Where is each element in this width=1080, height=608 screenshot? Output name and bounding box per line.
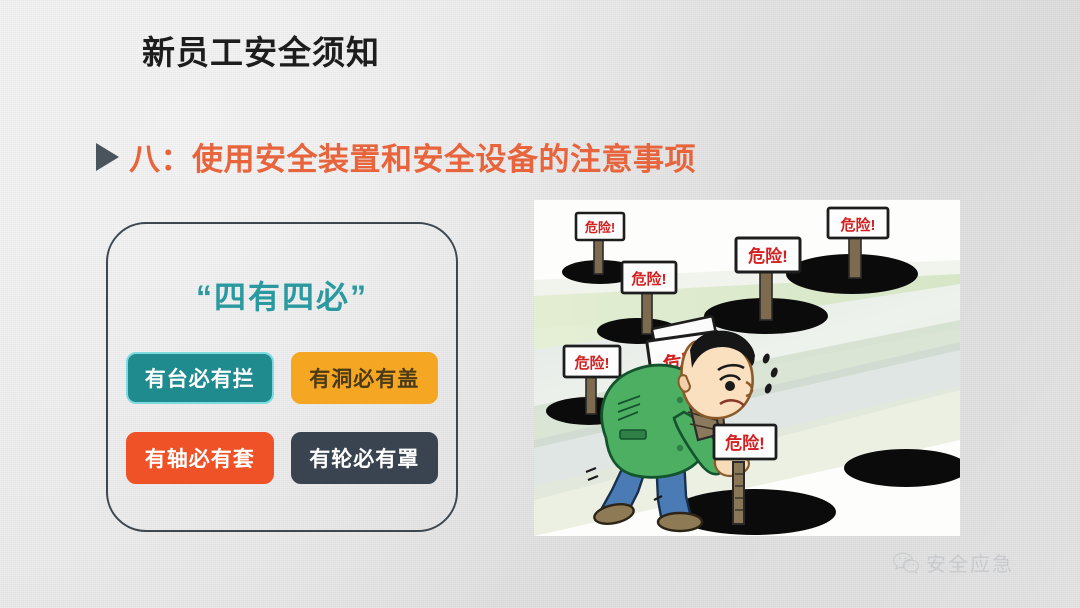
rule-chip-label: 有轴必有套 xyxy=(145,443,255,473)
safety-cartoon-illustration: 危险! 危险! 危险! 危险! xyxy=(534,200,960,536)
card-title: “四有四必” xyxy=(108,272,456,318)
section-heading: 八：使用安全装置和安全设备的注意事项 xyxy=(96,134,696,179)
svg-text:危险!: 危险! xyxy=(585,220,615,235)
rule-chip: 有洞必有盖 xyxy=(291,352,439,404)
triangle-right-icon xyxy=(96,143,119,171)
rule-chip-label: 有洞必有盖 xyxy=(309,363,419,393)
svg-text:危险!: 危险! xyxy=(724,433,765,453)
rule-chip: 有轴必有套 xyxy=(126,432,274,484)
slide-canvas: 新员工安全须知 八：使用安全装置和安全设备的注意事项 “四有四必” 有台必有拦 … xyxy=(0,0,1080,608)
rule-chip-grid: 有台必有拦 有洞必有盖 有轴必有套 有轮必有罩 xyxy=(126,352,438,484)
watermark: 安全应急 xyxy=(893,548,1014,577)
watermark-label: 安全应急 xyxy=(926,548,1014,577)
cartoon-svg: 危险! 危险! 危险! 危险! xyxy=(534,200,960,536)
section-heading-label: 八：使用安全装置和安全设备的注意事项 xyxy=(129,134,696,179)
wechat-icon xyxy=(893,552,919,574)
rule-chip-label: 有轮必有罩 xyxy=(309,443,419,473)
page-title: 新员工安全须知 xyxy=(142,26,380,74)
rule-chip: 有台必有拦 xyxy=(126,352,274,404)
svg-text:危险!: 危险! xyxy=(632,270,667,288)
svg-text:危险!: 危险! xyxy=(841,216,876,234)
svg-text:危险!: 危险! xyxy=(575,354,610,372)
rule-chip-label: 有台必有拦 xyxy=(145,363,255,393)
svg-text:危险!: 危险! xyxy=(747,246,788,266)
four-rules-card: “四有四必” 有台必有拦 有洞必有盖 有轴必有套 有轮必有罩 xyxy=(106,222,458,532)
rule-chip: 有轮必有罩 xyxy=(291,432,439,484)
